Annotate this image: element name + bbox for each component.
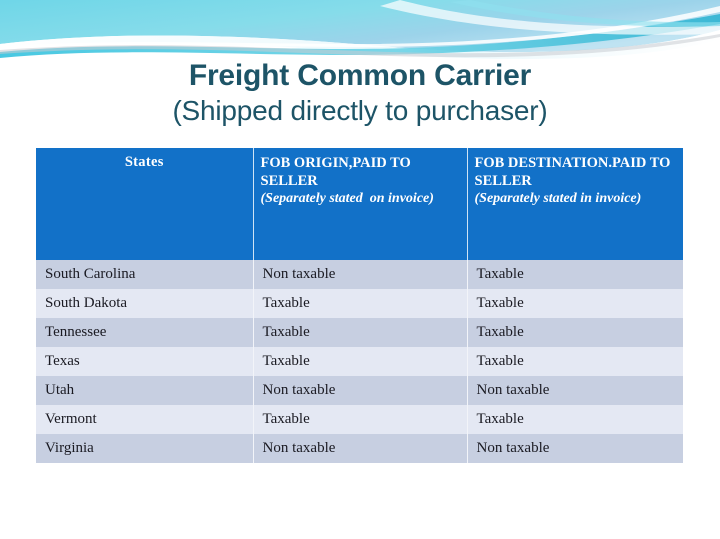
table-header: States FOB ORIGIN,PAID TO SELLER (Separa… (36, 148, 683, 260)
table-row: VirginiaNon taxableNon taxable (36, 434, 683, 463)
cell-fob_destination: Taxable (467, 318, 683, 347)
cell-fob_destination: Taxable (467, 347, 683, 376)
freight-tax-table: States FOB ORIGIN,PAID TO SELLER (Separa… (36, 148, 683, 463)
cell-state: South Dakota (36, 289, 253, 318)
column-header-fob-destination-note: (Separately stated in invoice) (475, 190, 677, 208)
column-header-states-label: States (125, 154, 164, 170)
slide-title-block: Freight Common Carrier (Shipped directly… (0, 58, 720, 128)
cell-fob_origin: Non taxable (253, 260, 467, 289)
column-header-fob-origin-label: FOB ORIGIN,PAID TO SELLER (261, 155, 411, 189)
column-header-states[interactable]: States (36, 148, 253, 260)
cell-fob_origin: Taxable (253, 347, 467, 376)
column-header-fob-origin[interactable]: FOB ORIGIN,PAID TO SELLER (Separately st… (253, 148, 467, 260)
page-subtitle: (Shipped directly to purchaser) (0, 94, 720, 128)
cell-fob_origin: Taxable (253, 289, 467, 318)
cell-state: Texas (36, 347, 253, 376)
cell-fob_destination: Non taxable (467, 434, 683, 463)
table-row: UtahNon taxableNon taxable (36, 376, 683, 405)
decorative-wave-banner (0, 0, 720, 62)
cell-state: Virginia (36, 434, 253, 463)
table-row: TennesseeTaxableTaxable (36, 318, 683, 347)
cell-state: Vermont (36, 405, 253, 434)
cell-fob_origin: Non taxable (253, 376, 467, 405)
table-row: South CarolinaNon taxableTaxable (36, 260, 683, 289)
table-row: VermontTaxableTaxable (36, 405, 683, 434)
table-row: South DakotaTaxableTaxable (36, 289, 683, 318)
tax-table-container: States FOB ORIGIN,PAID TO SELLER (Separa… (36, 148, 683, 463)
cell-fob_destination: Taxable (467, 289, 683, 318)
table-header-row: States FOB ORIGIN,PAID TO SELLER (Separa… (36, 148, 683, 260)
column-header-fob-destination[interactable]: FOB DESTINATION.PAID TO SELLER (Separate… (467, 148, 683, 260)
cell-state: Utah (36, 376, 253, 405)
cell-fob_destination: Non taxable (467, 376, 683, 405)
cell-fob_origin: Taxable (253, 405, 467, 434)
column-header-fob-destination-label: FOB DESTINATION.PAID TO SELLER (475, 155, 671, 189)
page-title: Freight Common Carrier (0, 58, 720, 94)
table-row: TexasTaxableTaxable (36, 347, 683, 376)
cell-state: South Carolina (36, 260, 253, 289)
cell-state: Tennessee (36, 318, 253, 347)
cell-fob_origin: Taxable (253, 318, 467, 347)
cell-fob_destination: Taxable (467, 405, 683, 434)
cell-fob_origin: Non taxable (253, 434, 467, 463)
column-header-fob-origin-note: (Separately stated on invoice) (261, 190, 460, 208)
table-body: South CarolinaNon taxableTaxableSouth Da… (36, 260, 683, 463)
cell-fob_destination: Taxable (467, 260, 683, 289)
